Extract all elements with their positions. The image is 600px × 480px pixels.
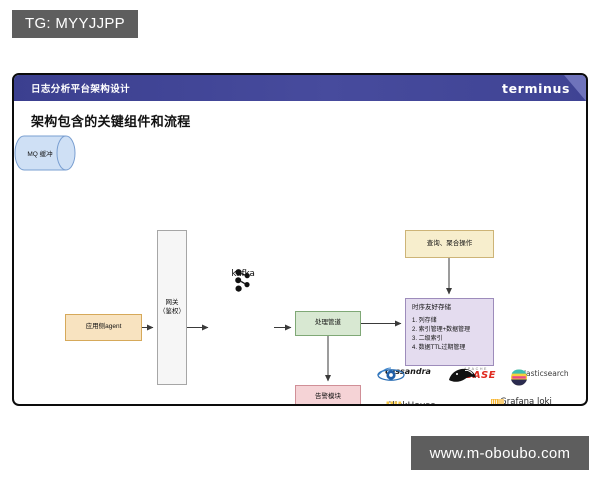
watermark-top: TG: MYYJJPP: [12, 10, 138, 38]
architecture-diagram: 应用侧agent 网关 （鉴权）: [14, 135, 586, 404]
node-timeseries-storage-title: 时序友好存储: [412, 304, 493, 313]
node-query-aggregation-label: 查询、聚合操作: [427, 240, 473, 249]
node-gateway-label-line1: 网关: [166, 299, 179, 308]
node-gateway[interactable]: 网关 （鉴权）: [157, 230, 187, 385]
hbase-logo: APACHE HBASE: [445, 367, 507, 381]
slide-frame: 日志分析平台架构设计 terminus 架构包含的关键组件和流程: [12, 73, 588, 406]
cassandra-logo: cassandra: [376, 367, 440, 376]
node-processing-pipeline[interactable]: 处理管道: [295, 311, 361, 336]
slide-header-bar: 日志分析平台架构设计 terminus: [14, 75, 586, 101]
page-title: 架构包含的关键组件和流程: [31, 111, 191, 130]
watermark-bottom-url: www.m-oboubo.com: [411, 436, 589, 470]
clickhouse-logo: ClickHouse: [386, 401, 480, 406]
diagram-connectors: [14, 135, 586, 404]
slide-header-title: 日志分析平台架构设计: [31, 81, 130, 95]
node-query-aggregation[interactable]: 查询、聚合操作: [405, 230, 494, 258]
node-gateway-label-line2: （鉴权）: [159, 308, 185, 317]
list-item: 2. 索引管理+数据管理: [412, 326, 493, 335]
node-timeseries-storage[interactable]: 时序友好存储 1. 列存储 2. 索引管理+数据管理 3. 二级索引 4. 数据…: [405, 298, 494, 366]
node-app-agent[interactable]: 应用侧agent: [65, 314, 142, 341]
hbase-orca-icon: [445, 367, 479, 384]
kafka-logo-group: kafka: [220, 268, 266, 308]
list-item: 1. 列存储: [412, 317, 493, 326]
list-item: 3. 二级索引: [412, 335, 493, 344]
storage-engine-logos: cassandra APACHE HBASE: [374, 367, 579, 406]
node-mq-buffer-label: MQ 缓冲: [14, 135, 66, 171]
grafana-loki-icon: [486, 397, 508, 406]
node-alarm-module-label: 告警模块: [315, 393, 341, 402]
brand-logo: terminus: [502, 81, 570, 96]
node-processing-pipeline-label: 处理管道: [315, 319, 341, 328]
kafka-icon: [220, 268, 266, 294]
node-mq-buffer[interactable]: MQ 缓冲: [14, 135, 76, 171]
elasticsearch-logo: elasticsearch: [510, 369, 578, 378]
cassandra-eye-icon: [376, 367, 406, 383]
clickhouse-bars-icon: [386, 401, 405, 406]
list-item: 4. 数据TTL过期管理: [412, 344, 493, 353]
elasticsearch-icon: [510, 369, 528, 386]
node-alarm-module[interactable]: 告警模块: [295, 385, 361, 406]
grafana-loki-logo: Grafana loki: [486, 397, 566, 406]
screenshot-root: TG: MYYJJPP 日志分析平台架构设计 terminus 架构包含的关键组…: [0, 0, 600, 480]
node-app-agent-label: 应用侧agent: [86, 323, 122, 332]
node-timeseries-storage-list: 1. 列存储 2. 索引管理+数据管理 3. 二级索引 4. 数据TTL过期管理: [412, 317, 493, 353]
